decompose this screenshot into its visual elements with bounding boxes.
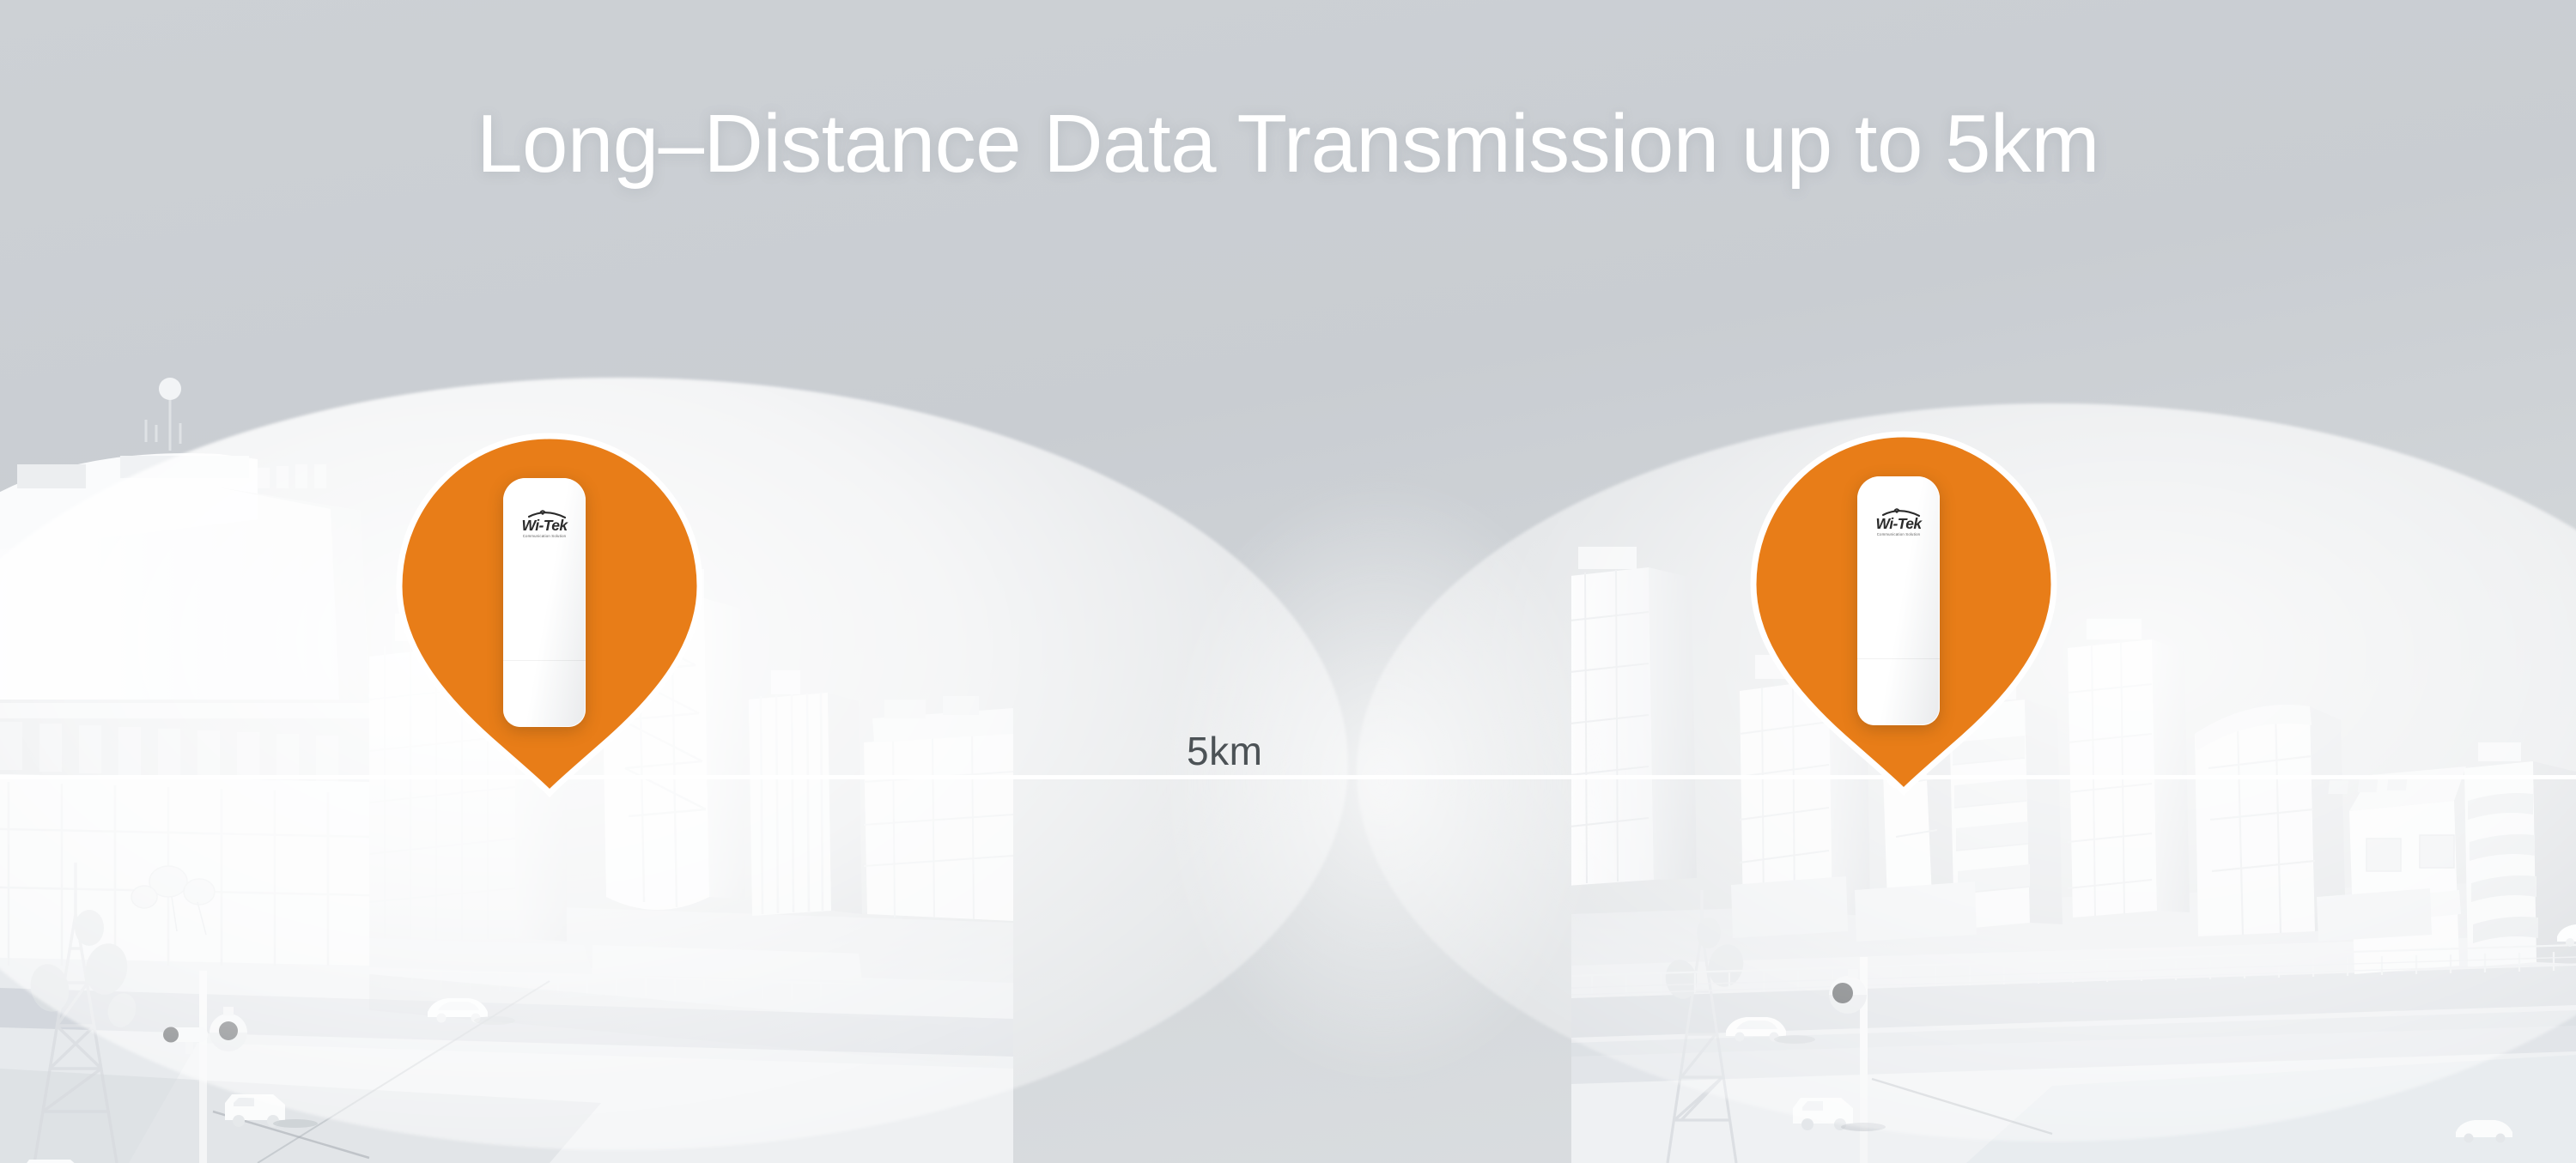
page-title: Long–Distance Data Transmission up to 5k… <box>0 103 2576 185</box>
distance-label: 5km <box>1187 728 1262 774</box>
wi-tek-logo-left: Wi-Tek Communication Solution <box>503 506 586 543</box>
device-seam <box>503 660 586 661</box>
svg-text:Wi-Tek: Wi-Tek <box>1876 515 1923 532</box>
transmission-link-line <box>0 775 2576 779</box>
city-skyline-right <box>1571 365 2576 1163</box>
hero-banner: 5km Wi-Tek Communication Solution <box>0 0 2576 1163</box>
wi-tek-logo-right: Wi-Tek Communication Solution <box>1857 504 1940 542</box>
wireless-cpe-device-right[interactable]: Wi-Tek Communication Solution <box>1857 476 1940 725</box>
wireless-cpe-device-left[interactable]: Wi-Tek Communication Solution <box>503 478 586 727</box>
svg-text:Communication Solution: Communication Solution <box>523 534 567 538</box>
device-seam <box>1857 658 1940 659</box>
svg-text:Communication Solution: Communication Solution <box>1877 532 1921 536</box>
svg-text:Wi-Tek: Wi-Tek <box>522 517 569 534</box>
coverage-overlap-glow <box>1159 481 1606 1081</box>
